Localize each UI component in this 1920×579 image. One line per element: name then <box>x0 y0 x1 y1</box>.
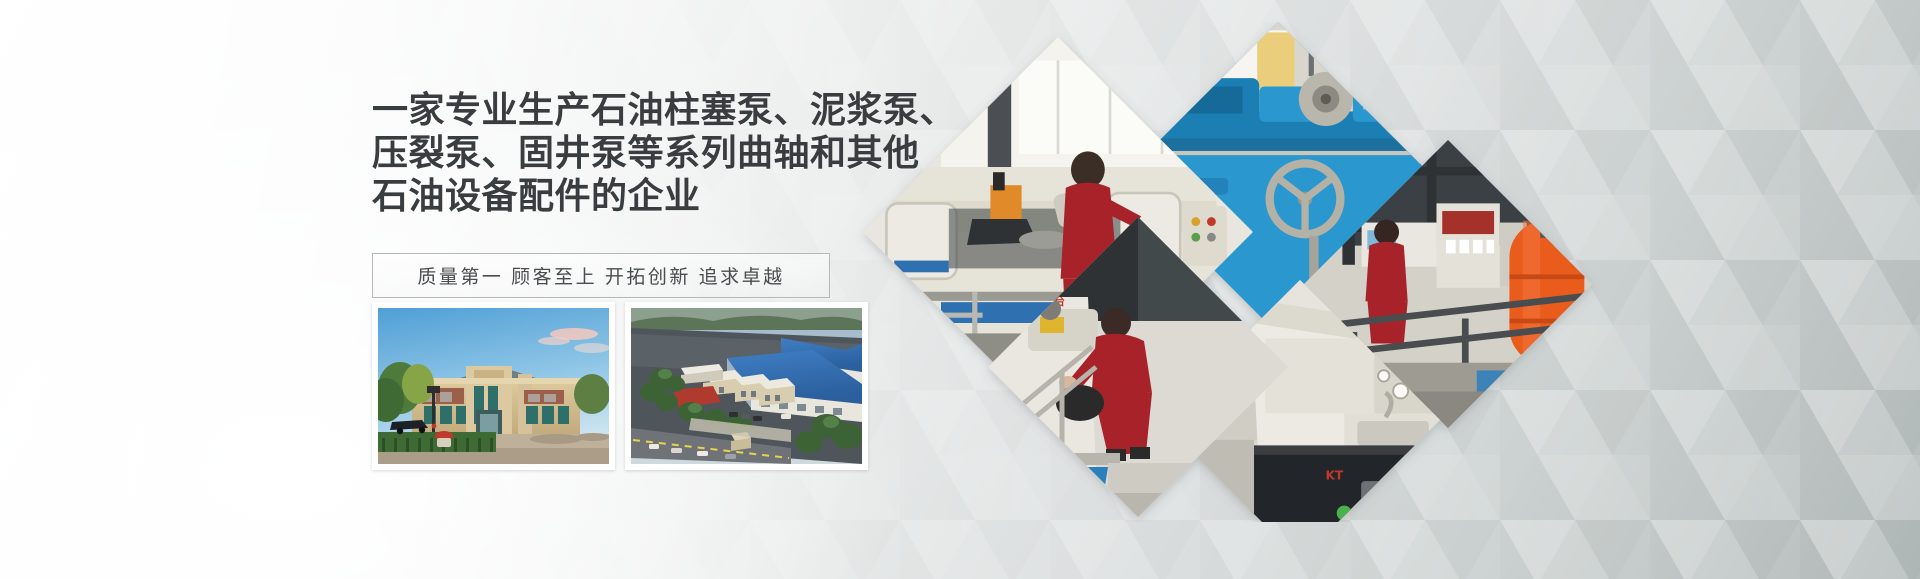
headline-line-2: 压裂泵、固井泵等系列曲轴和其他 <box>372 131 872 174</box>
headline-line-1: 一家专业生产石油柱塞泵、泥浆泵、 <box>372 88 872 131</box>
photo-card-office-building[interactable] <box>372 302 615 470</box>
hero-tagline-box: 质量第一 顾客至上 开拓创新 追求卓越 <box>372 253 830 298</box>
hero-left-content: 一家专业生产石油柱塞泵、泥浆泵、 压裂泵、固井泵等系列曲轴和其他 石油设备配件的… <box>372 88 872 217</box>
hero-photo-strip <box>372 302 868 470</box>
photo-card-factory-aerial[interactable] <box>625 302 868 470</box>
office-building-photo <box>378 308 609 464</box>
hero-banner: 安全 工作台 <box>0 0 1920 579</box>
hero-headline: 一家专业生产石油柱塞泵、泥浆泵、 压裂泵、固井泵等系列曲轴和其他 石油设备配件的… <box>372 88 872 217</box>
factory-aerial-photo <box>631 308 862 464</box>
diamond-photo-collage: 安全 工作台 <box>848 22 1608 522</box>
headline-line-3: 石油设备配件的企业 <box>372 174 872 217</box>
hero-tagline-text: 质量第一 顾客至上 开拓创新 追求卓越 <box>417 262 784 289</box>
